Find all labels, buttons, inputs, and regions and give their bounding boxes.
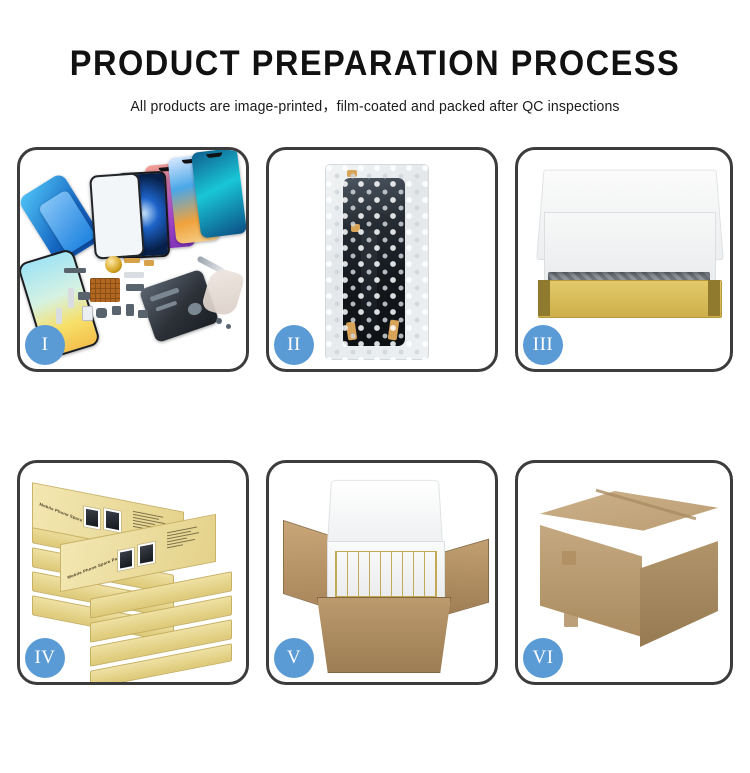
foam-lid [327, 480, 443, 547]
tempered-glass-sheet [89, 172, 145, 259]
step-badge-5: V [274, 638, 314, 678]
page-subtitle: All products are image-printed，film-coat… [11, 95, 739, 116]
process-step-4[interactable]: Mobile Phone Spare Parts Mobile Phone Sp… [17, 460, 249, 685]
carton-side-face [640, 541, 718, 647]
process-step-3[interactable]: III [515, 147, 733, 372]
speaker-component-icon [105, 256, 122, 273]
page-header: PRODUCT PREPARATION PROCESS All products… [0, 0, 750, 116]
bubble-wrap-bag [325, 164, 429, 360]
step-badge-1: I [25, 325, 65, 365]
carton-tape-icon [562, 551, 576, 565]
bubble-texture [325, 164, 429, 360]
carton-front-face [540, 525, 642, 637]
chip-grid-component [90, 278, 120, 302]
process-step-5[interactable]: V [266, 460, 498, 685]
process-row-1: I II [0, 147, 750, 372]
carton-front [317, 597, 451, 673]
process-step-1[interactable]: I [17, 147, 249, 372]
process-row-2: Mobile Phone Spare Parts Mobile Phone Sp… [0, 460, 750, 685]
packed-yellow-boxes [335, 551, 437, 597]
page-title: PRODUCT PREPARATION PROCESS [26, 46, 724, 81]
process-step-2[interactable]: II [266, 147, 498, 372]
box-tray [538, 280, 722, 318]
process-grid: I II [0, 147, 750, 773]
box-side-right [708, 280, 720, 316]
process-step-6[interactable]: VI [515, 460, 733, 685]
hand [201, 266, 246, 318]
box-side-left [538, 280, 550, 316]
step-badge-2: II [274, 325, 314, 365]
phone-notch-icon [206, 152, 222, 158]
box-label-text: Mobile Phone Spare Parts [67, 554, 123, 580]
step-badge-3: III [523, 325, 563, 365]
step-badge-6: VI [523, 638, 563, 678]
carton-tape-icon [564, 613, 578, 627]
phone-teal [191, 150, 246, 238]
step-badge-4: IV [25, 638, 65, 678]
